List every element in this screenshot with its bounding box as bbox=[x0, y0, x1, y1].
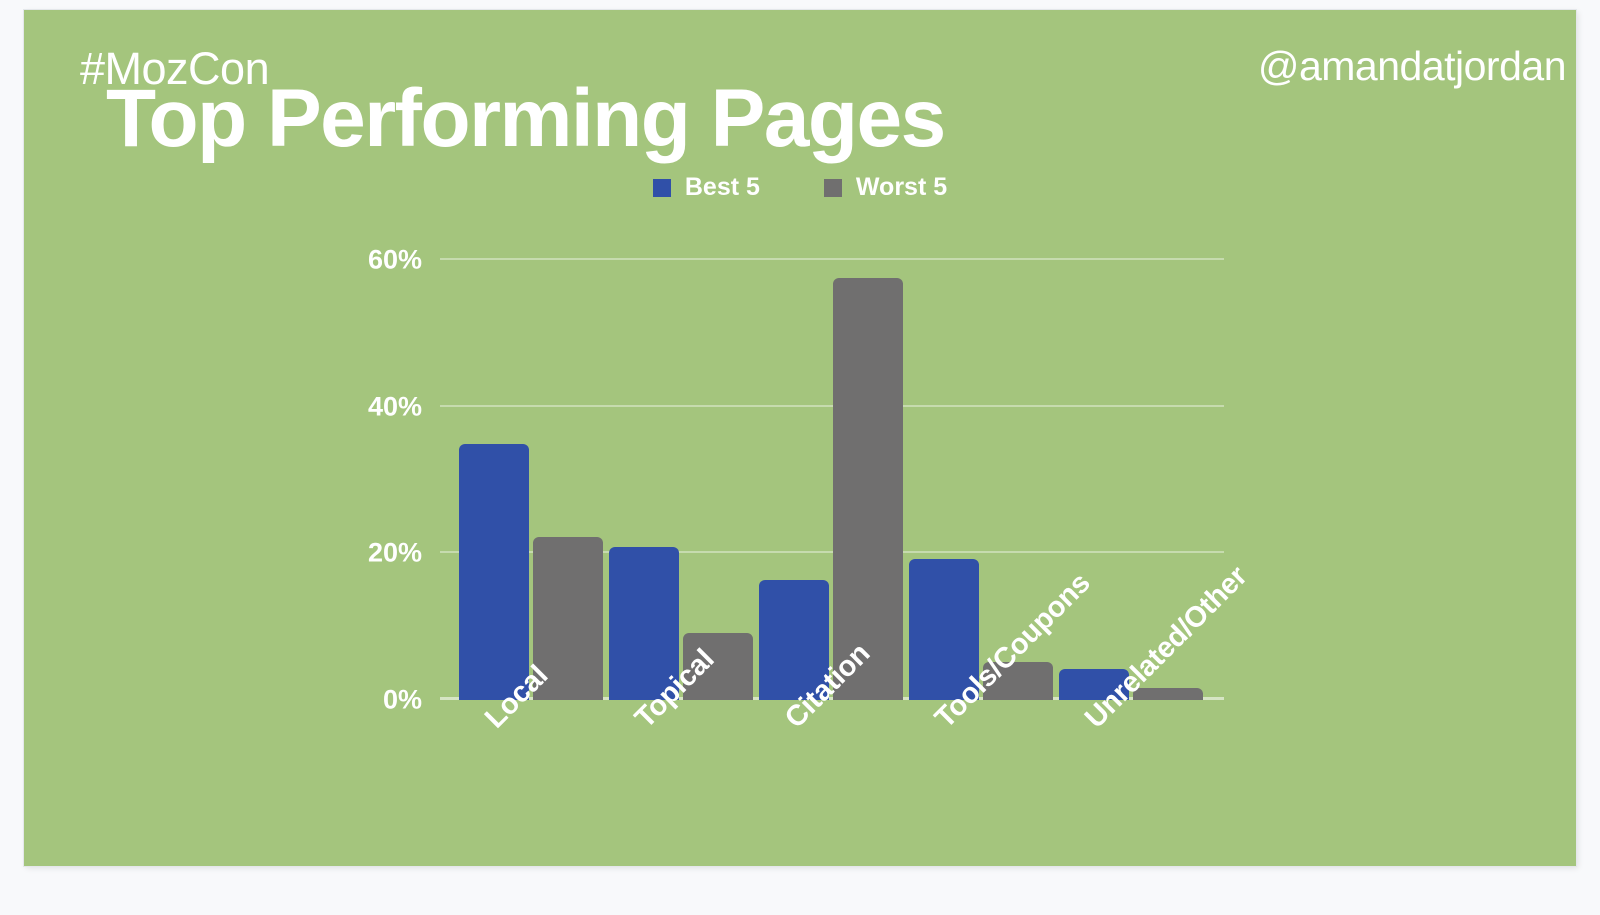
y-axis-tick-label: 60% bbox=[282, 245, 422, 276]
bar-group bbox=[759, 278, 903, 700]
legend-item-worst-5: Worst 5 bbox=[824, 173, 947, 202]
y-axis-tick-label: 0% bbox=[282, 685, 422, 716]
legend-label-worst-5: Worst 5 bbox=[856, 173, 947, 202]
legend-swatch-worst-5 bbox=[824, 179, 842, 197]
bar-best-5[interactable] bbox=[459, 444, 529, 700]
slide-canvas: #MozCon @amandatjordan Top Performing Pa… bbox=[24, 10, 1576, 866]
legend-item-best-5: Best 5 bbox=[653, 173, 760, 202]
bar-chart-plot-area bbox=[440, 238, 1224, 700]
chart-legend: Best 5 Worst 5 bbox=[24, 173, 1576, 202]
page-title: Top Performing Pages bbox=[106, 76, 945, 162]
y-axis-tick-label: 40% bbox=[282, 391, 422, 422]
presenter-handle: @amandatjordan bbox=[1258, 46, 1566, 87]
legend-swatch-best-5 bbox=[653, 179, 671, 197]
gridline bbox=[440, 258, 1224, 260]
bar-worst-5[interactable] bbox=[833, 278, 903, 700]
legend-label-best-5: Best 5 bbox=[685, 173, 760, 202]
y-axis-tick-label: 20% bbox=[282, 538, 422, 569]
